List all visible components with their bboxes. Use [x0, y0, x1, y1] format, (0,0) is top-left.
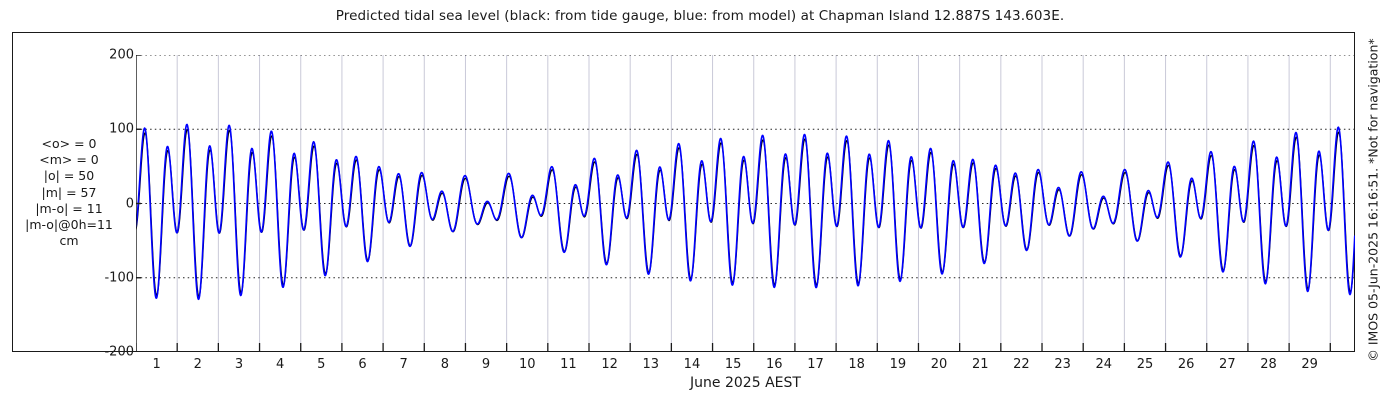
y-axis-tick-labels: 2001000-100-200	[80, 55, 134, 352]
x-tick-label: 13	[642, 357, 659, 372]
x-tick-label: 16	[766, 357, 783, 372]
y-tick-label: -200	[104, 345, 134, 360]
tide-series-svg	[136, 55, 1355, 352]
x-tick-label: 15	[725, 357, 742, 372]
x-tick-label: 1	[152, 357, 160, 372]
x-tick-label: 23	[1054, 357, 1071, 372]
x-tick-label: 27	[1219, 357, 1236, 372]
tide-series-group	[136, 125, 1355, 300]
x-tick-label: 10	[519, 357, 536, 372]
x-tick-label: 12	[601, 357, 618, 372]
x-tick-label: 26	[1178, 357, 1195, 372]
credit-notice: © IMOS 05-Jun-2025 16:16:51. *Not for na…	[1363, 0, 1383, 400]
x-tick-label: 14	[684, 357, 701, 372]
x-axis-tick-labels: 1234567891011121314151617181920212223242…	[136, 357, 1355, 377]
x-tick-label: 21	[972, 357, 989, 372]
x-tick-label: 25	[1137, 357, 1154, 372]
x-tick-label: 11	[560, 357, 577, 372]
x-tick-label: 19	[890, 357, 907, 372]
plot-area	[136, 55, 1355, 352]
x-tick-label: 18	[848, 357, 865, 372]
x-tick-label: 9	[482, 357, 490, 372]
tide-chart-figure: Predicted tidal sea level (black: from t…	[0, 0, 1400, 400]
x-tick-label: 2	[194, 357, 202, 372]
y-tick-label: 0	[126, 196, 134, 211]
x-tick-label: 29	[1301, 357, 1318, 372]
x-axis-title: June 2025 AEST	[136, 375, 1355, 391]
page-title: Predicted tidal sea level (black: from t…	[0, 8, 1400, 24]
credit-text: © IMOS 05-Jun-2025 16:16:51. *Not for na…	[1366, 38, 1381, 361]
series-tide-gauge	[136, 130, 1355, 297]
x-tick-label: 6	[358, 357, 366, 372]
x-tick-label: 17	[807, 357, 824, 372]
x-tick-label: 8	[441, 357, 449, 372]
x-tick-label: 24	[1096, 357, 1113, 372]
y-tick-label: 100	[109, 122, 134, 137]
x-tick-label: 5	[317, 357, 325, 372]
y-tick-label: -100	[104, 270, 134, 285]
y-tick-label: 200	[109, 48, 134, 63]
x-tick-label: 7	[400, 357, 408, 372]
x-tick-label: 3	[235, 357, 243, 372]
x-tick-label: 28	[1260, 357, 1277, 372]
x-tick-label: 4	[276, 357, 284, 372]
x-tick-label: 20	[931, 357, 948, 372]
x-tick-label: 22	[1013, 357, 1030, 372]
series-model	[136, 125, 1355, 300]
